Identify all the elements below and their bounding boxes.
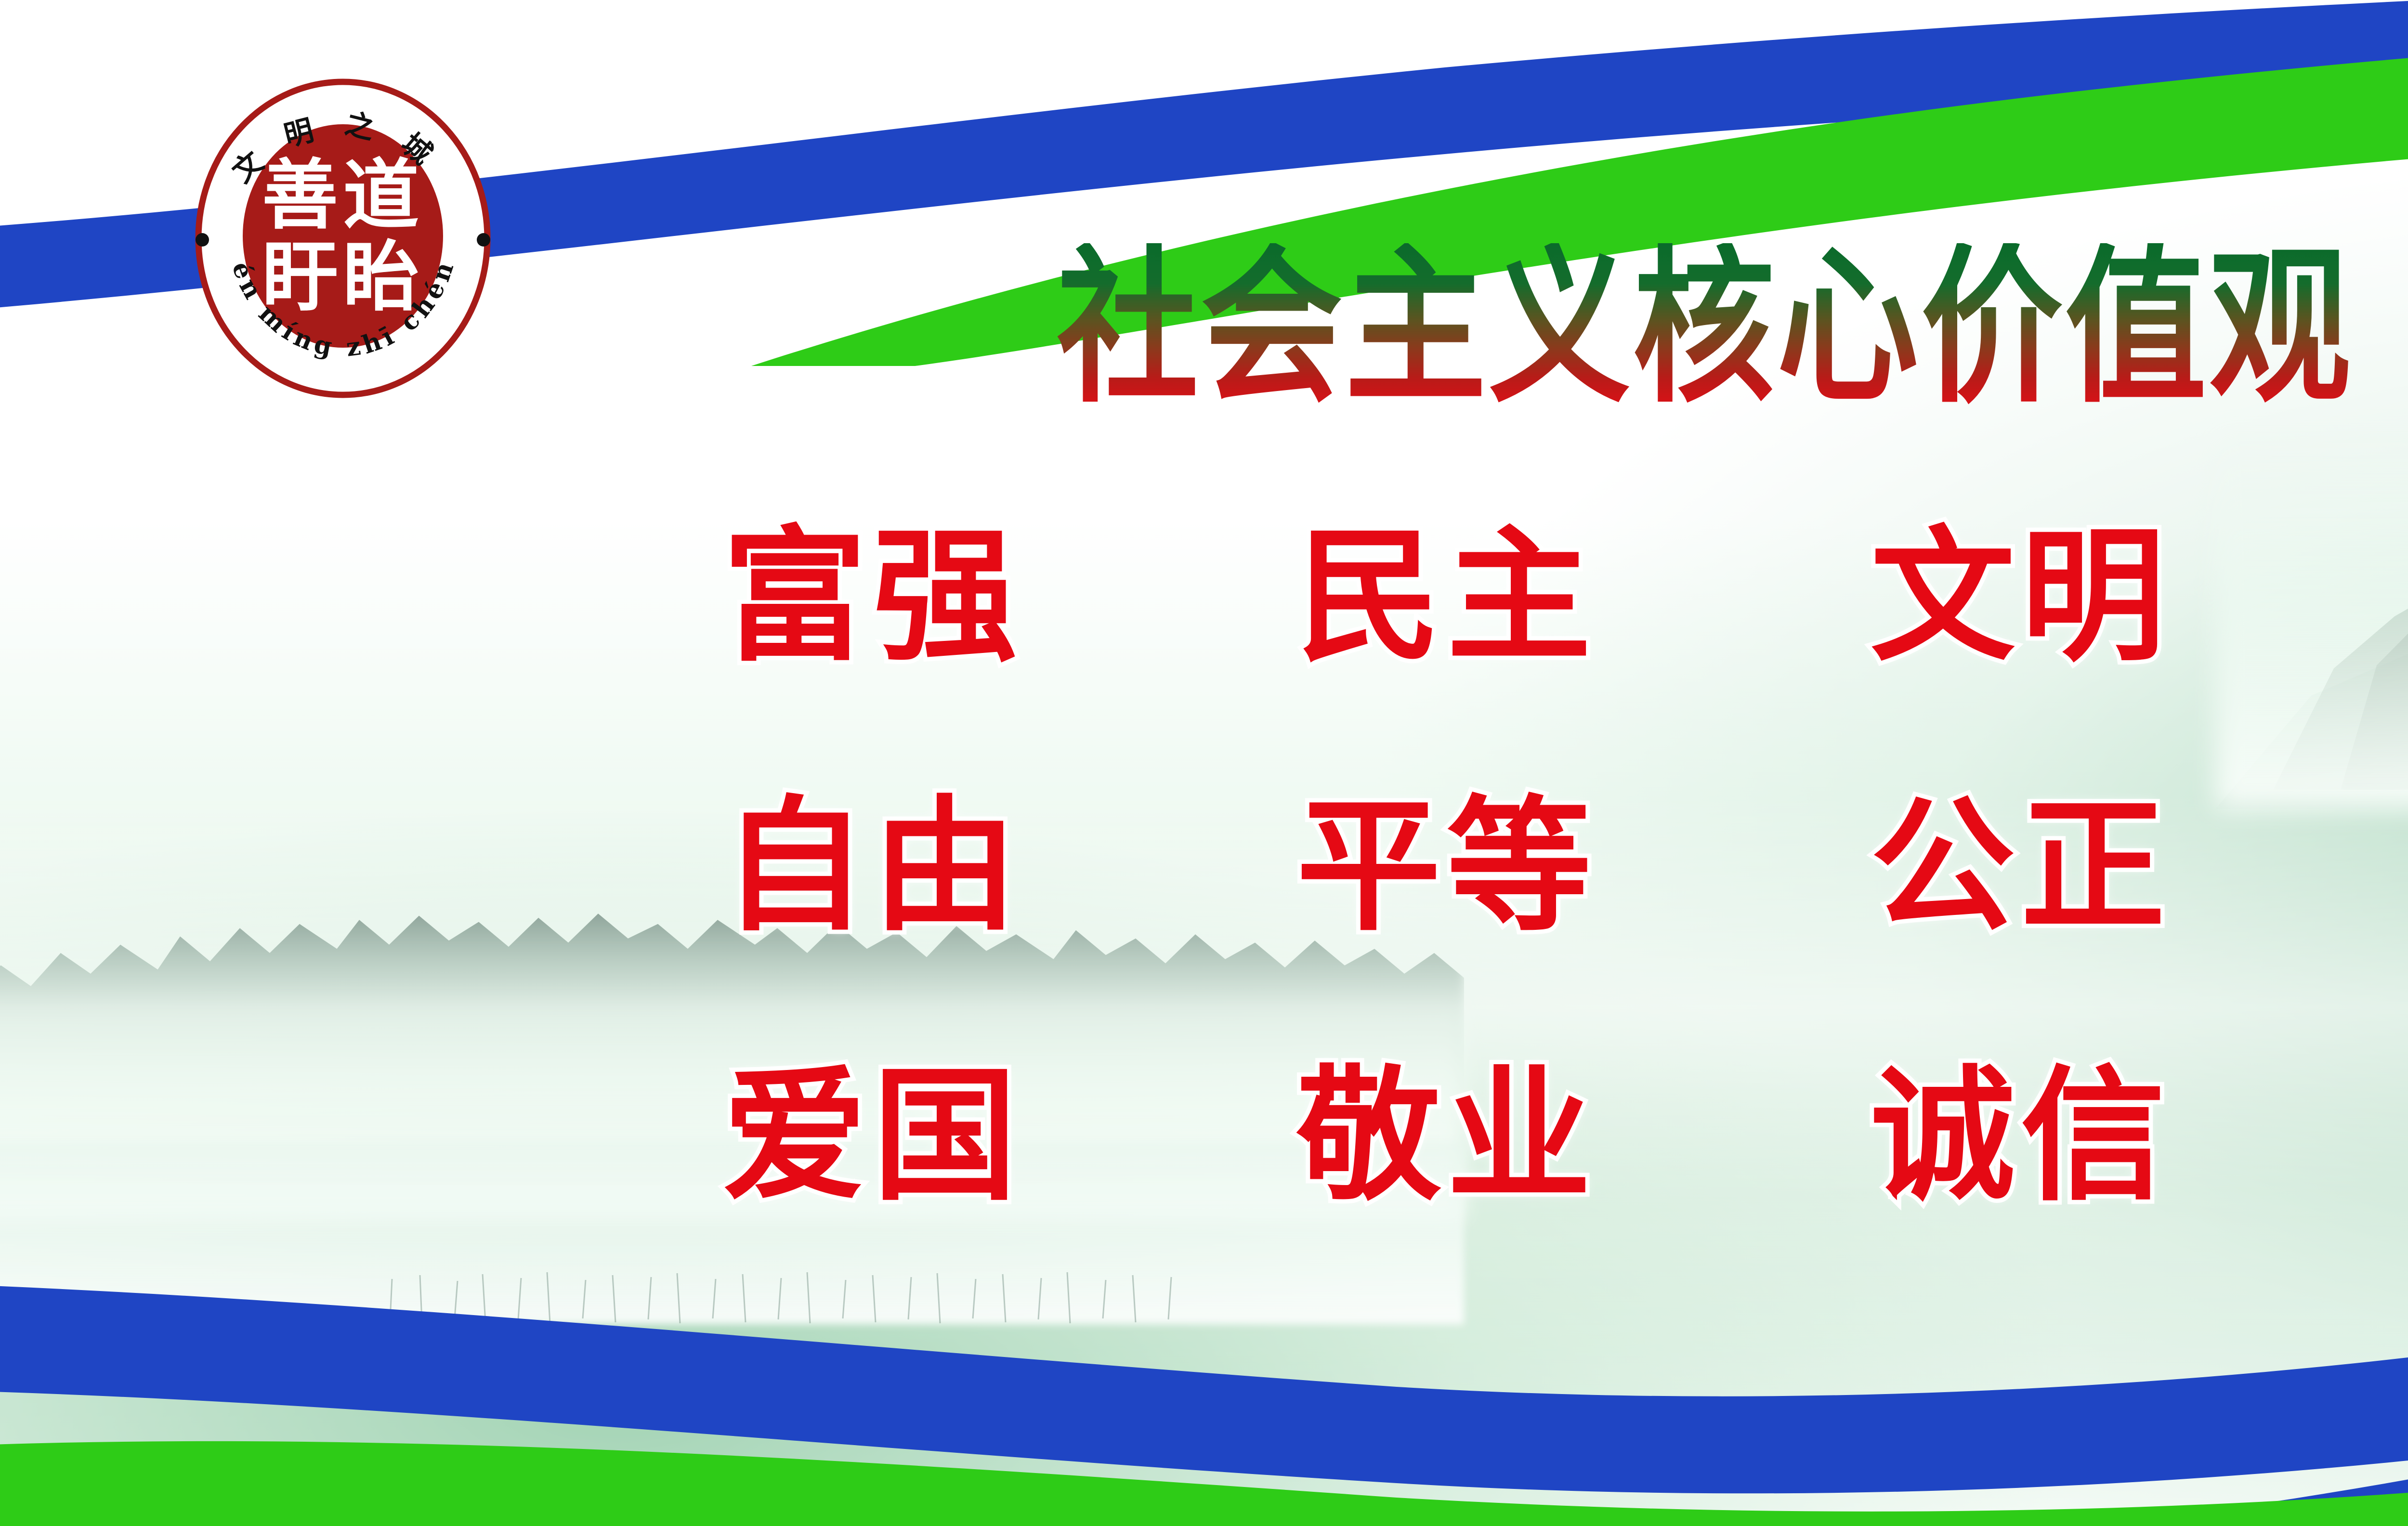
- page-title: 社会主义核心价值观: [1057, 243, 2353, 412]
- core-value-word: 平等: [1296, 795, 1597, 939]
- core-value-word: 文明: [1871, 525, 2171, 669]
- core-values-row: 自由 平等 公正 法治: [722, 756, 2408, 978]
- core-values-block: 富强 民主 文明 和谐 自由 平等 公正 法治 爱国 敬业 诚信 友善: [722, 486, 2408, 1262]
- core-values-row: 富强 民主 文明 和谐: [722, 486, 2408, 708]
- propaganda-board: 文明之城 wén míng zhī chéng 善道 盱眙 社会主义核心价值观 …: [0, 0, 2408, 1526]
- core-value-word: 自由: [722, 795, 1023, 939]
- core-value-word: 爱国: [722, 1064, 1023, 1209]
- emblem-dot-left: [196, 233, 209, 247]
- bottom-green-ribbon: [0, 1315, 2408, 1526]
- core-value-word: 公正: [1871, 795, 2171, 939]
- core-value-word: 富强: [722, 525, 1023, 669]
- civic-emblem[interactable]: 文明之城 wén míng zhī chéng 善道 盱眙: [174, 77, 511, 400]
- emblem-dot-right: [477, 233, 490, 247]
- core-values-row: 爱国 敬业 诚信 友善: [722, 1026, 2408, 1247]
- emblem-center-line-1: 善道: [262, 151, 424, 240]
- page-title-container: 社会主义核心价值观: [862, 226, 2408, 429]
- core-value-word: 敬业: [1296, 1064, 1597, 1209]
- emblem-center-line-2: 盱眙: [262, 233, 424, 322]
- core-value-word: 民主: [1296, 525, 1597, 669]
- core-value-word: 诚信: [1871, 1064, 2171, 1209]
